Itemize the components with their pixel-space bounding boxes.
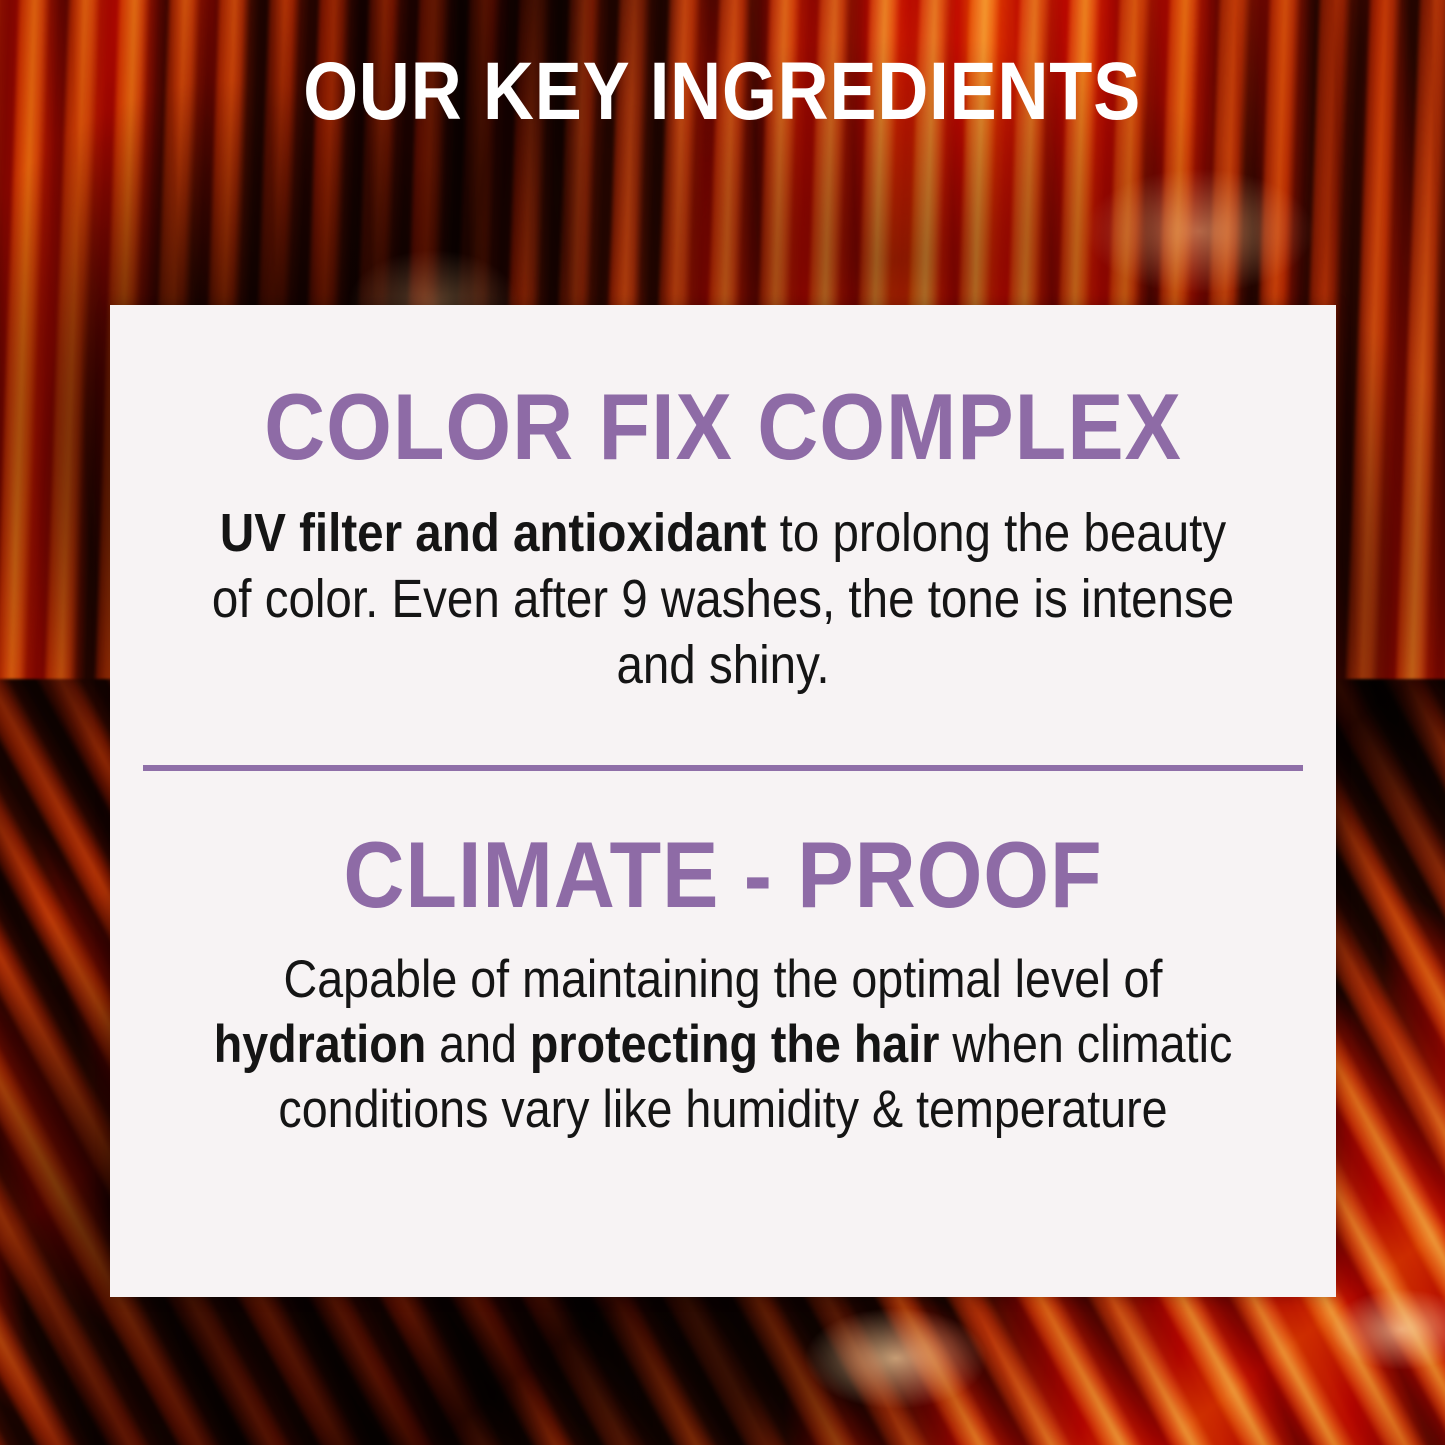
section-body-color-fix-complex: UV filter and antioxidant to prolong the… <box>199 501 1246 699</box>
section-heading-color-fix-complex: COLOR FIX COMPLEX <box>188 379 1259 475</box>
section-divider <box>143 765 1303 771</box>
banner-title: OUR KEY INGREDIENTS <box>304 51 1142 133</box>
ingredients-infographic: OUR KEY INGREDIENTS COLOR FIX COMPLEX UV… <box>0 0 1445 1445</box>
section-heading-climate-proof: CLIMATE - PROOF <box>188 827 1259 923</box>
ingredient-section-climate-proof: CLIMATE - PROOF Capable of maintaining t… <box>128 827 1318 1143</box>
header-banner: OUR KEY INGREDIENTS <box>0 0 1445 183</box>
ingredient-section-color-fix-complex: COLOR FIX COMPLEX UV filter and antioxid… <box>128 379 1318 699</box>
section-body-climate-proof: Capable of maintaining the optimal level… <box>199 948 1246 1142</box>
ingredients-card: COLOR FIX COMPLEX UV filter and antioxid… <box>110 305 1336 1297</box>
